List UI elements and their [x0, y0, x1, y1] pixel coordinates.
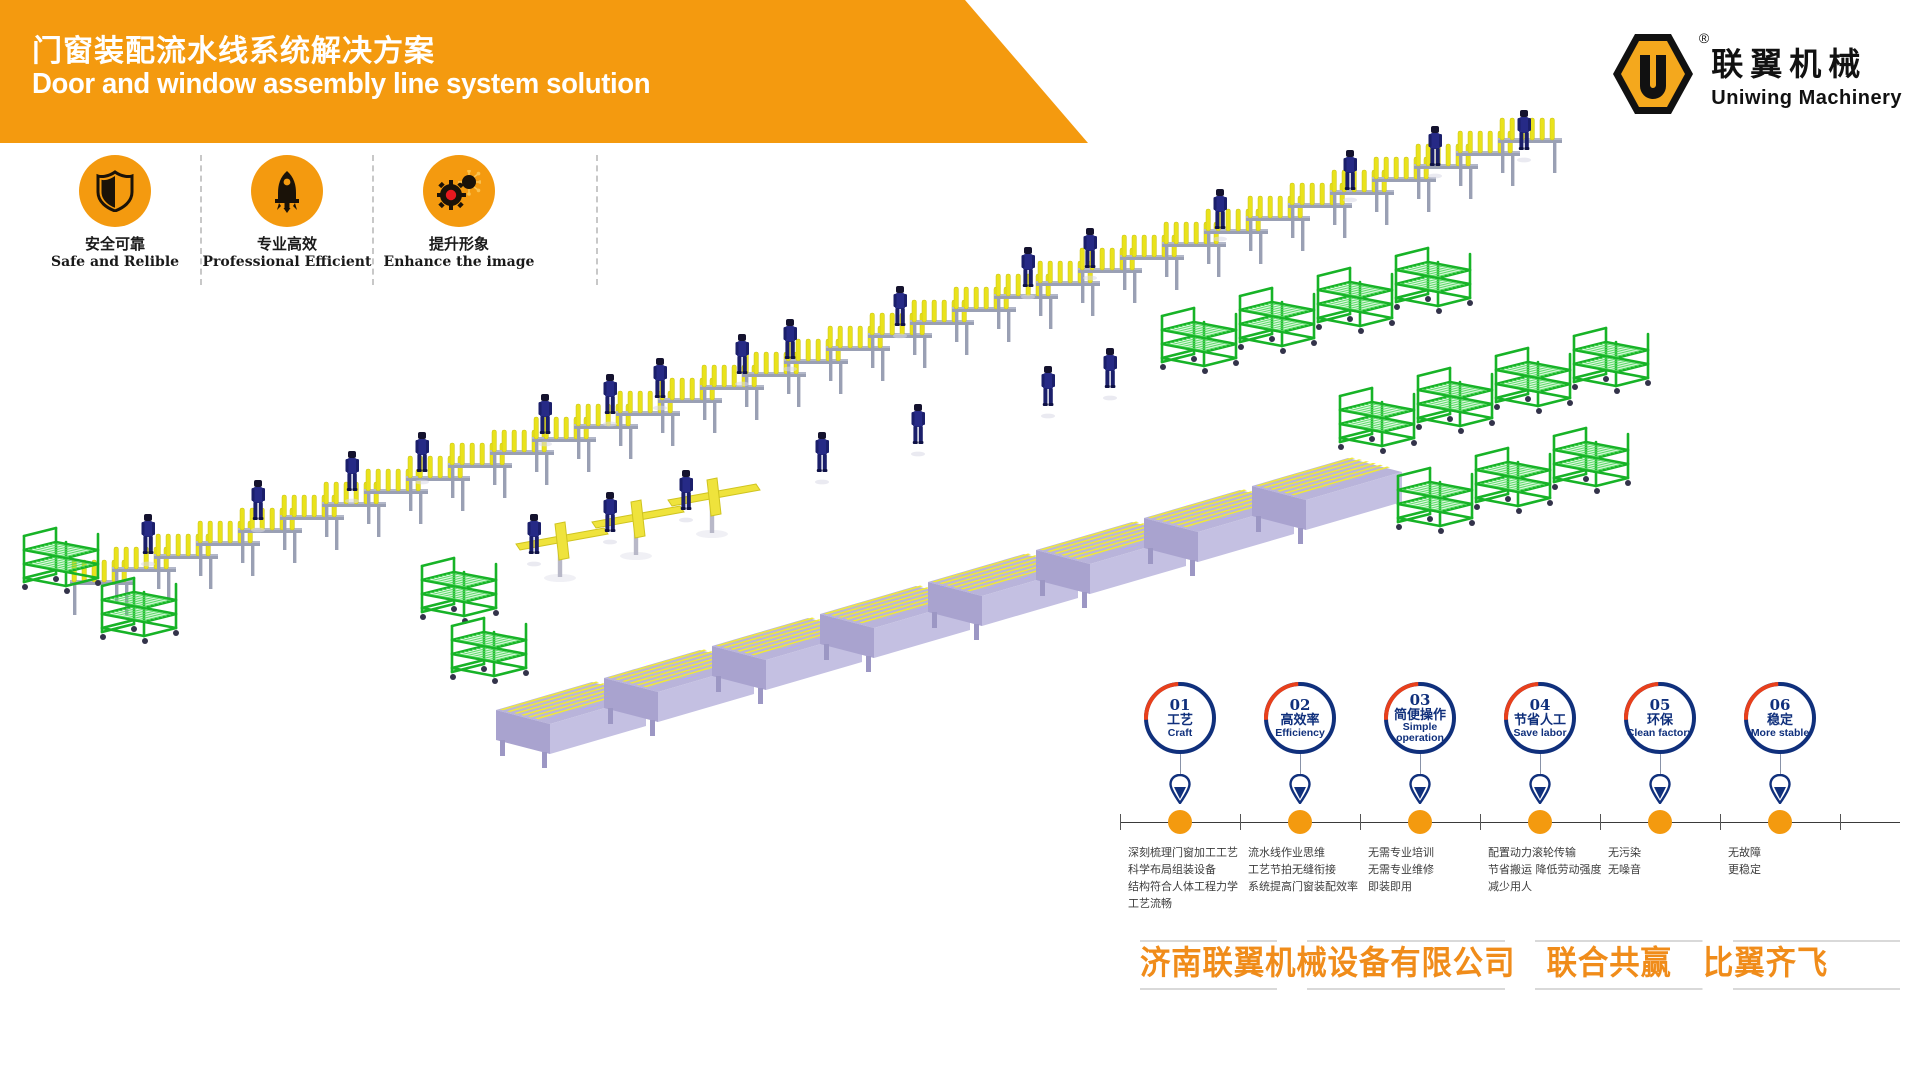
workers-assembly-line: [527, 348, 1117, 566]
badge-stem: [1180, 754, 1181, 776]
badge-stem: [1420, 754, 1421, 776]
timeline-node-04[interactable]: 04 节省人工 Save labor 配置动力滚轮传输 节省搬运 降低劳动强度 …: [1480, 682, 1600, 754]
rocket-icon: [251, 155, 323, 227]
badge-label-cn: 稳定: [1767, 714, 1793, 728]
badge-label-en: Clean factory: [1627, 728, 1694, 739]
feature-strip: 安全可靠 Safe and Relible 专业高效 Professional …: [30, 155, 590, 285]
timeline-node-05[interactable]: 05 环保 Clean factory 无污染 无噪音: [1600, 682, 1720, 754]
badge-label-cn: 简便操作: [1394, 709, 1446, 723]
footer-rule-bottom: [1140, 988, 1900, 990]
badge-stem: [1660, 754, 1661, 776]
timeline-dot: [1648, 810, 1672, 834]
timeline-node-02[interactable]: 02 高效率 Efficiency 流水线作业思维 工艺节拍无缝衔接 系统提高门…: [1240, 682, 1360, 754]
badge-02[interactable]: 02 高效率 Efficiency: [1264, 682, 1336, 754]
benefits-timeline: 01 工艺 Craft 深刻梳理门窗加工工艺 科学布局组装设备 结构符合人体工程…: [1120, 682, 1910, 982]
timeline-dot: [1408, 810, 1432, 834]
badge-label-en: Save labor: [1513, 728, 1566, 739]
location-pin-icon: [1649, 774, 1671, 804]
feature-label-cn: 提升形象: [429, 235, 489, 254]
company-logo: ® 联翼机械 Uniwing Machinery: [1609, 30, 1902, 118]
feature-item-safe: 安全可靠 Safe and Relible: [30, 155, 200, 285]
feature-label-cn: 安全可靠: [85, 235, 145, 254]
page-title-cn: 门窗装配流水线系统解决方案: [32, 26, 435, 70]
node-description: 无污染 无噪音: [1608, 844, 1726, 878]
badge-03[interactable]: 03 简便操作 Simple operation: [1384, 682, 1456, 754]
feature-label-en: Safe and Relible: [51, 254, 179, 272]
timeline-tick: [1840, 814, 1841, 830]
page-title-en: Door and window assembly line system sol…: [32, 68, 650, 101]
badge-04[interactable]: 04 节省人工 Save labor: [1504, 682, 1576, 754]
shield-icon: [79, 155, 151, 227]
location-pin-icon: [1769, 774, 1791, 804]
badge-stem: [1300, 754, 1301, 776]
logo-name-cn: 联翼机械: [1711, 39, 1902, 85]
timeline-dot: [1288, 810, 1312, 834]
timeline-dot: [1768, 810, 1792, 834]
poster-page: 门窗装配流水线系统解决方案 Door and window assembly l…: [0, 0, 1920, 1080]
feature-label-en: Enhance the image: [384, 254, 535, 272]
hexagon-u-logo-icon: ®: [1609, 30, 1697, 118]
location-pin-icon: [1169, 774, 1191, 804]
badge-06[interactable]: 06 稳定 More stable: [1744, 682, 1816, 754]
feature-item-image: 提升形象 Enhance the image: [372, 155, 544, 285]
timeline-dot: [1168, 810, 1192, 834]
logo-wordmark: 联翼机械 Uniwing Machinery: [1711, 39, 1902, 110]
node-description: 配置动力滚轮传输 节省搬运 降低劳动强度 减少用人: [1488, 844, 1606, 895]
timeline-tick: [1360, 814, 1361, 830]
badge-number: 05: [1650, 698, 1671, 713]
badge-05[interactable]: 05 环保 Clean factory: [1624, 682, 1696, 754]
node-description: 无故障 更稳定: [1728, 844, 1846, 878]
badge-stem: [1780, 754, 1781, 776]
timeline-dot: [1528, 810, 1552, 834]
single-carts-left: [22, 528, 529, 684]
location-pin-icon: [1529, 774, 1551, 804]
feature-item-professional: 专业高效 Professional Efficient: [200, 155, 372, 285]
gear-network-icon: [423, 155, 495, 227]
footer-banner: 济南联翼机械设备有限公司 联合共赢 比翼齐飞: [1140, 940, 1900, 1010]
node-description: 深刻梳理门窗加工工艺 科学布局组装设备 结构符合人体工程力学 工艺流畅: [1128, 844, 1246, 912]
timeline-node-06[interactable]: 06 稳定 More stable 无故障 更稳定: [1720, 682, 1840, 754]
node-description: 流水线作业思维 工艺节拍无缝衔接 系统提高门窗装配效率: [1248, 844, 1366, 895]
badge-01[interactable]: 01 工艺 Craft: [1144, 682, 1216, 754]
location-pin-icon: [1289, 774, 1311, 804]
window-frames-on-stands: [516, 478, 760, 582]
timeline-tick: [1720, 814, 1721, 830]
badge-number: 03: [1410, 693, 1431, 708]
badge-label-en: More stable: [1751, 728, 1809, 739]
badge-label-cn: 工艺: [1167, 714, 1193, 728]
timeline-tick: [1600, 814, 1601, 830]
registered-trademark-icon: ®: [1699, 30, 1709, 46]
logo-name-en: Uniwing Machinery: [1711, 87, 1902, 110]
badge-number: 02: [1290, 698, 1311, 713]
badge-number: 04: [1530, 698, 1551, 713]
feature-label-en: Professional Efficient: [203, 254, 372, 272]
timeline-tick: [1120, 814, 1121, 830]
location-pin-icon: [1409, 774, 1431, 804]
feature-label-cn: 专业高效: [257, 235, 317, 254]
timeline-node-03[interactable]: 03 简便操作 Simple operation 无需专业培训 无需专业维修 即…: [1360, 682, 1480, 754]
badge-label-cn: 环保: [1647, 714, 1673, 728]
badge-label-cn: 高效率: [1280, 714, 1319, 728]
badge-stem: [1540, 754, 1541, 776]
timeline-tick: [1480, 814, 1481, 830]
badge-label-cn: 节省人工: [1514, 714, 1566, 728]
badge-number: 01: [1170, 698, 1191, 713]
company-slogan: 济南联翼机械设备有限公司 联合共赢 比翼齐飞: [1140, 940, 1839, 986]
node-description: 无需专业培训 无需专业维修 即装即用: [1368, 844, 1486, 895]
badge-label-en: Efficiency: [1275, 728, 1325, 739]
badge-label-en: Craft: [1168, 728, 1193, 739]
badge-label-en: Simple operation: [1384, 722, 1456, 743]
badge-number: 06: [1770, 698, 1791, 713]
timeline-node-01[interactable]: 01 工艺 Craft 深刻梳理门窗加工工艺 科学布局组装设备 结构符合人体工程…: [1120, 682, 1240, 754]
timeline-tick: [1240, 814, 1241, 830]
